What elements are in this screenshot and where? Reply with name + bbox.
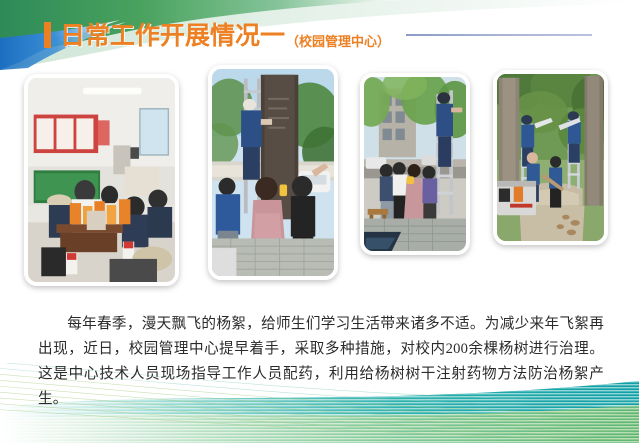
photo-thumbnail[interactable] (360, 73, 470, 255)
title-marker (44, 22, 51, 48)
photo-3-image (364, 77, 466, 251)
page-title: 日常工作开展情况一 (60, 23, 285, 48)
photo-4-image (497, 74, 604, 241)
title-rule (406, 34, 592, 36)
slide-canvas: 日常工作开展情况一 （校园管理中心） (0, 0, 639, 443)
page-title-block: 日常工作开展情况一 （校园管理中心） (44, 18, 592, 52)
photo-2-image (212, 69, 334, 276)
photo-thumbnail[interactable] (208, 65, 338, 280)
photo-thumbnail[interactable] (493, 70, 608, 245)
body-paragraph: 每年春季，漫天飘飞的杨絮，给师生们学习生活带来诸多不适。为减少来年飞絮再出现，近… (38, 312, 604, 412)
photo-thumbnail[interactable] (24, 74, 179, 286)
photo-1-image (28, 78, 175, 282)
page-subtitle: （校园管理中心） (286, 31, 390, 52)
